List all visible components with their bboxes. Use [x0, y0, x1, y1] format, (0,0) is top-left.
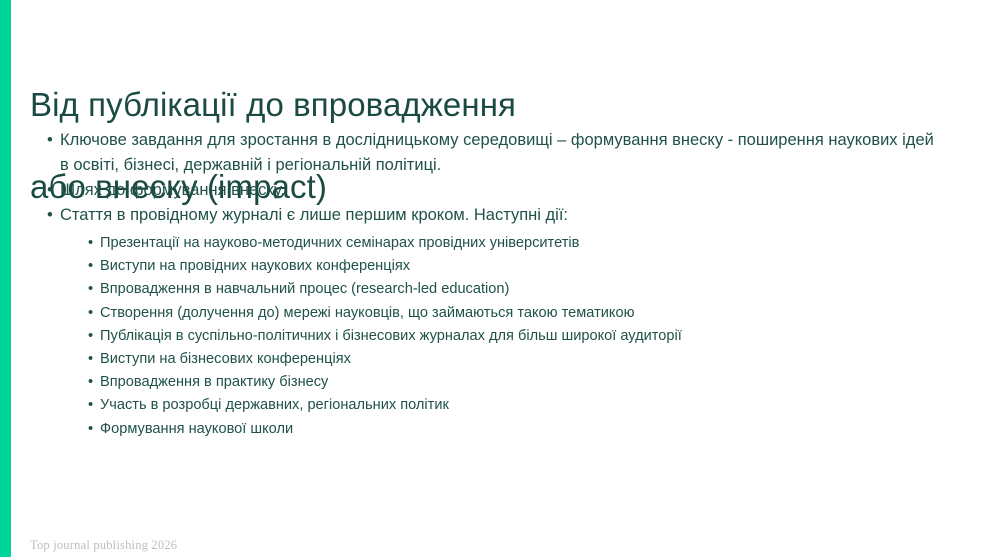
sub-bullet-item: • Впровадження в навчальний процес (rese…	[88, 278, 947, 301]
left-accent-bar	[0, 0, 11, 557]
slide-title-line-1: Від публікації до впровадження	[30, 84, 910, 125]
main-bullet-list: • Ключове завдання для зростання в дослі…	[47, 128, 947, 441]
sub-bullet-item: • Презентації на науково-методичних семі…	[88, 232, 947, 255]
bullet-dot-icon: •	[47, 128, 53, 153]
sub-bullet-text: Виступи на провідних наукових конференці…	[100, 258, 410, 274]
sub-bullet-text: Виступи на бізнесових конференціях	[100, 351, 351, 367]
main-bullet-item: • Ключове завдання для зростання в дослі…	[47, 128, 947, 178]
sub-bullet-text: Впровадження в практику бізнесу	[100, 374, 328, 390]
sub-bullet-item: • Впровадження в практику бізнесу	[88, 371, 947, 394]
slide-footer: Top journal publishing 2026	[30, 538, 177, 553]
main-bullet-item: • Шлях до формування внеску.	[47, 178, 947, 203]
main-bullet-text: Шлях до формування внеску.	[60, 181, 285, 199]
sub-bullet-text: Впровадження в навчальний процес (resear…	[100, 281, 509, 297]
bullet-dot-icon: •	[88, 394, 93, 417]
sub-bullet-item: • Створення (долучення до) мережі науков…	[88, 302, 947, 325]
sub-bullet-text: Створення (долучення до) мережі науковці…	[100, 305, 635, 321]
main-bullet-item: • Стаття в провідному журналі є лише пер…	[47, 203, 947, 441]
sub-bullet-text: Участь в розробці державних, регіональни…	[100, 397, 449, 413]
main-bullet-text: Стаття в провідному журналі є лише перши…	[60, 206, 568, 224]
slide-body: • Ключове завдання для зростання в дослі…	[47, 128, 947, 441]
bullet-dot-icon: •	[88, 418, 93, 441]
bullet-dot-icon: •	[88, 348, 93, 371]
sub-bullet-item: • Публікація в суспільно-політичних і бі…	[88, 325, 947, 348]
bullet-dot-icon: •	[88, 302, 93, 325]
sub-bullet-item: • Виступи на бізнесових конференціях	[88, 348, 947, 371]
sub-bullet-item: • Участь в розробці державних, регіональ…	[88, 394, 947, 417]
sub-bullet-list: • Презентації на науково-методичних семі…	[60, 232, 947, 441]
main-bullet-text: Ключове завдання для зростання в дослідн…	[60, 131, 934, 174]
bullet-dot-icon: •	[88, 371, 93, 394]
sub-bullet-text: Презентації на науково-методичних семіна…	[100, 235, 579, 251]
bullet-dot-icon: •	[88, 232, 93, 255]
sub-bullet-item: • Виступи на провідних наукових конферен…	[88, 255, 947, 278]
bullet-dot-icon: •	[88, 278, 93, 301]
bullet-dot-icon: •	[88, 325, 93, 348]
sub-bullet-item: • Формування наукової школи	[88, 418, 947, 441]
bullet-dot-icon: •	[88, 255, 93, 278]
sub-bullet-text: Публікація в суспільно-політичних і бізн…	[100, 328, 682, 344]
sub-bullet-text: Формування наукової школи	[100, 421, 293, 437]
bullet-dot-icon: •	[47, 178, 53, 203]
presentation-slide: Від публікації до впровадження або внеск…	[0, 0, 1000, 557]
bullet-dot-icon: •	[47, 203, 53, 228]
